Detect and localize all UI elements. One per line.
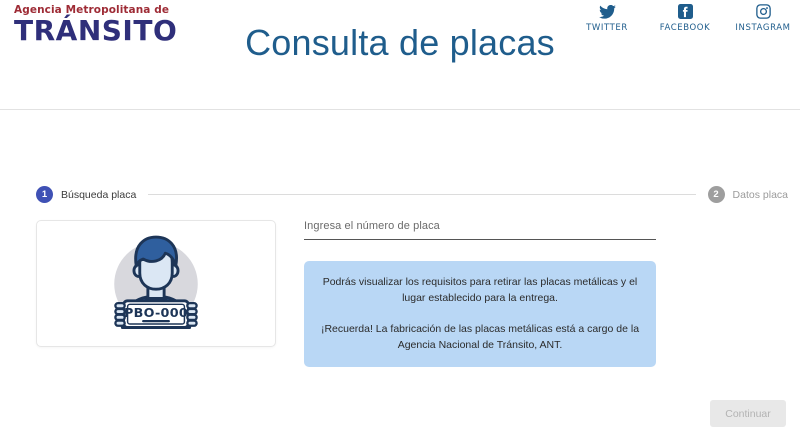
continue-button[interactable]: Continuar bbox=[710, 400, 786, 427]
info-box-line-1: Podrás visualizar los requisitos para re… bbox=[320, 274, 640, 306]
stepper-step-datos-placa[interactable]: 2 Datos placa bbox=[708, 186, 788, 203]
social-link-twitter[interactable]: TWITTER bbox=[580, 3, 634, 33]
info-box: Podrás visualizar los requisitos para re… bbox=[304, 261, 656, 367]
instagram-icon bbox=[756, 3, 771, 20]
footer-actions: Continuar bbox=[710, 400, 786, 427]
info-box-line-2: ¡Recuerda! La fabricación de las placas … bbox=[320, 321, 640, 353]
stepper-connector bbox=[148, 194, 695, 195]
stepper: 1 Búsqueda placa 2 Datos placa bbox=[36, 186, 788, 203]
plate-illustration-card: PBO-000 bbox=[36, 220, 276, 347]
plate-form: Ingresa el número de placa Podrás visual… bbox=[304, 220, 656, 367]
step-number-badge-2: 2 bbox=[708, 186, 725, 203]
social-link-facebook[interactable]: FACEBOOK bbox=[658, 3, 712, 33]
facebook-icon bbox=[678, 3, 693, 20]
twitter-icon bbox=[599, 3, 616, 20]
page-root: Agencia Metropolitana de TRÁNSITO Consul… bbox=[0, 0, 800, 445]
social-links: TWITTER FACEBOOK bbox=[580, 3, 790, 33]
social-label-instagram: INSTAGRAM bbox=[735, 23, 790, 33]
logo-line-transito: TRÁNSITO bbox=[14, 16, 164, 46]
site-header: Agencia Metropolitana de TRÁNSITO Consul… bbox=[0, 0, 800, 110]
agency-logo[interactable]: Agencia Metropolitana de TRÁNSITO bbox=[14, 4, 164, 46]
main-content: 1 Búsqueda placa 2 Datos placa bbox=[0, 110, 800, 445]
plate-number-text: PBO-000 bbox=[124, 306, 188, 321]
stepper-step-busqueda-placa[interactable]: 1 Búsqueda placa bbox=[36, 186, 136, 203]
plate-field-wrapper: Ingresa el número de placa bbox=[304, 220, 656, 240]
step-label-datos-placa: Datos placa bbox=[733, 189, 788, 201]
social-label-facebook: FACEBOOK bbox=[660, 23, 711, 33]
social-link-instagram[interactable]: INSTAGRAM bbox=[736, 3, 790, 33]
plate-field-label: Ingresa el número de placa bbox=[304, 220, 656, 239]
person-holding-plate-illustration: PBO-000 bbox=[98, 228, 214, 340]
plate-number-input[interactable] bbox=[304, 239, 656, 240]
step-number-badge-1: 1 bbox=[36, 186, 53, 203]
social-label-twitter: TWITTER bbox=[586, 23, 628, 33]
content-row: PBO-000 bbox=[0, 220, 800, 367]
step-label-busqueda-placa: Búsqueda placa bbox=[61, 189, 136, 201]
